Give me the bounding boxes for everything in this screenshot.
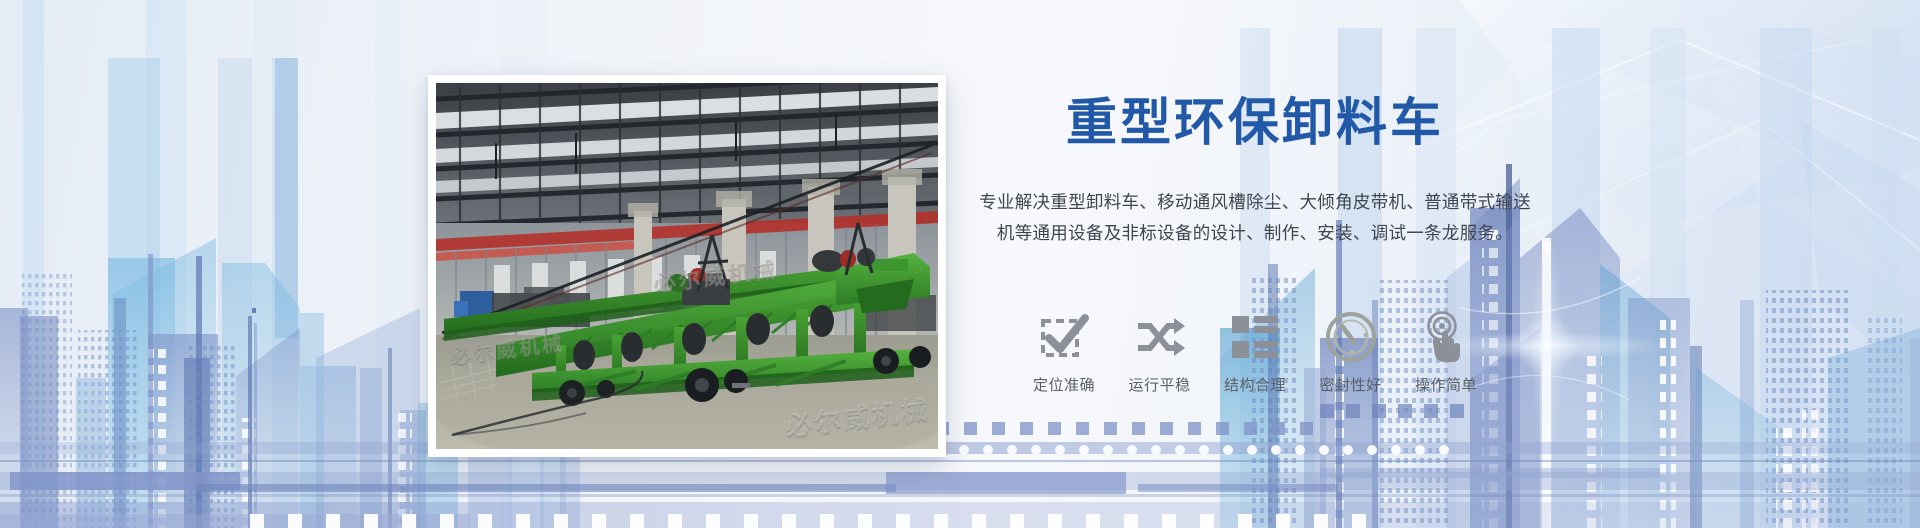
hero-banner: 必尔威机械 必尔威机械 必尔威机械 重型环保卸料车 专业解决重型卸料车、移动通风… xyxy=(0,0,1920,528)
feature-item-smooth-operation[interactable]: 运行平稳 xyxy=(1116,308,1204,395)
product-photo: 必尔威机械 必尔威机械 必尔威机械 xyxy=(436,83,938,449)
list-blocks-icon xyxy=(1211,308,1299,366)
shuffle-arrows-icon xyxy=(1116,308,1204,366)
hand-tap-icon xyxy=(1402,308,1490,366)
feature-label: 密封性好 xyxy=(1307,374,1395,395)
feature-item-easy-operation[interactable]: 操作简单 xyxy=(1402,308,1490,395)
feature-list: 定位准确 运行平稳 xyxy=(1020,308,1490,395)
feature-label: 定位准确 xyxy=(1020,374,1108,395)
feature-item-positioning[interactable]: 定位准确 xyxy=(1020,308,1108,395)
feature-item-sealing[interactable]: 密封性好 xyxy=(1307,308,1395,395)
banner-description: 专业解决重型卸料车、移动通风槽除尘、大倾角皮带机、普通带式输送机等通用设备及非标… xyxy=(975,188,1535,250)
check-box-icon xyxy=(1020,308,1108,366)
background-vertical-bands xyxy=(0,0,1920,528)
page-title: 重型环保卸料车 xyxy=(975,96,1535,152)
gauge-seal-icon xyxy=(1307,308,1395,366)
feature-label: 运行平稳 xyxy=(1116,374,1204,395)
background-facets xyxy=(1160,0,1920,528)
product-photo-frame[interactable]: 必尔威机械 必尔威机械 必尔威机械 xyxy=(428,75,946,457)
banner-text-panel: 重型环保卸料车 专业解决重型卸料车、移动通风槽除尘、大倾角皮带机、普通带式输送机… xyxy=(975,96,1535,250)
feature-item-structure[interactable]: 结构合理 xyxy=(1211,308,1299,395)
bottom-decorative-bands xyxy=(0,398,1920,528)
feature-label: 结构合理 xyxy=(1211,374,1299,395)
feature-label: 操作简单 xyxy=(1402,374,1490,395)
